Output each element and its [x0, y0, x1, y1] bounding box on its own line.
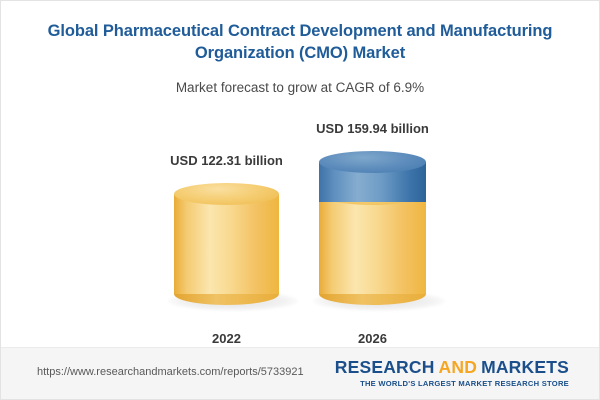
bar-group-2022: USD 122.31 billion 2022	[174, 106, 279, 346]
chart-footer: https://www.researchandmarkets.com/repor…	[1, 347, 600, 399]
logo-word-research: RESEARCH	[335, 357, 435, 377]
cylinder-body-2022	[174, 194, 279, 294]
cylinder-2022	[174, 183, 279, 306]
research-and-markets-logo[interactable]: RESEARCHANDMARKETS THE WORLD'S LARGEST M…	[335, 358, 569, 388]
cylinder-top-cap-2026	[319, 151, 426, 173]
chart-card: Global Pharmaceutical Contract Developme…	[0, 0, 600, 400]
chart-header: Global Pharmaceutical Contract Developme…	[1, 1, 599, 96]
bar-group-2026: USD 159.94 billion 2026	[319, 106, 426, 346]
cylinder-top-cap-2022	[174, 183, 279, 205]
logo-word-markets: MARKETS	[481, 357, 569, 377]
cylinder-segment-growth-2026	[319, 151, 426, 207]
chart-title: Global Pharmaceutical Contract Developme…	[37, 21, 563, 65]
bar-value-label-2022: USD 122.31 billion	[170, 153, 283, 168]
plot-area: USD 122.31 billion 2022 USD 159.94 bill	[1, 106, 600, 346]
logo-wordmark: RESEARCHANDMARKETS	[335, 358, 569, 377]
logo-word-and: AND	[439, 357, 478, 377]
chart-subtitle: Market forecast to grow at CAGR of 6.9%	[37, 79, 563, 97]
bar-value-label-2026: USD 159.94 billion	[316, 121, 429, 136]
report-url-link[interactable]: https://www.researchandmarkets.com/repor…	[37, 366, 304, 378]
axis-label-2022: 2022	[212, 331, 241, 346]
cylinder-segment-base-2022	[174, 183, 279, 306]
logo-tagline: THE WORLD'S LARGEST MARKET RESEARCH STOR…	[335, 379, 569, 388]
cylinder-2026	[319, 151, 426, 306]
cylinder-body-base-2026	[319, 194, 426, 294]
axis-label-2026: 2026	[358, 331, 387, 346]
